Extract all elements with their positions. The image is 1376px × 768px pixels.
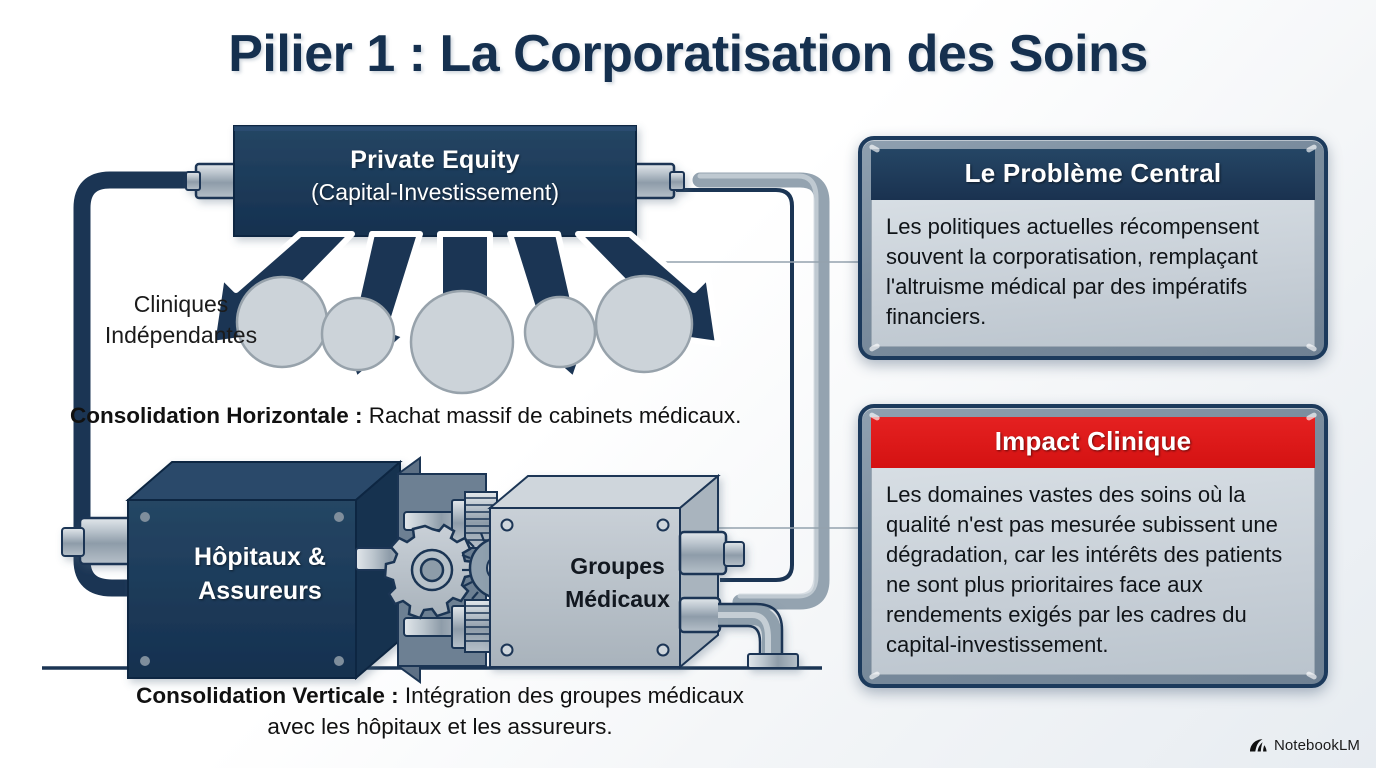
horizontal-consolidation-caption: Consolidation Horizontale : Rachat massi… — [70, 403, 810, 429]
vertical-caption-rest: Intégration des groupes médicaux — [399, 683, 744, 708]
panel-probleme-central-heading: Le Problème Central — [871, 149, 1315, 200]
panel-corner-highlight — [1305, 343, 1317, 353]
private-equity-box-label: Private Equity (Capital-Investissement) — [236, 144, 634, 208]
vertical-consolidation-caption: Consolidation Verticale : Intégration de… — [60, 680, 820, 742]
panel-corner-highlight — [1305, 671, 1317, 681]
panel-probleme-central: Le Problème Central Les politiques actue… — [858, 136, 1328, 360]
notebooklm-label: NotebookLM — [1274, 737, 1360, 754]
independent-clinics-label: Cliniques Indépendantes — [96, 289, 266, 351]
hospitals-insurers-label: Hôpitaux & Assureurs — [140, 540, 380, 608]
medical-groups-label: Groupes Médicaux — [510, 550, 725, 616]
vertical-caption-line2: avec les hôpitaux et les assureurs. — [60, 711, 820, 742]
private-equity-subtitle: (Capital-Investissement) — [236, 176, 634, 208]
clinics-label-line1: Cliniques — [96, 289, 266, 320]
horizontal-caption-bold: Consolidation Horizontale : — [70, 403, 363, 428]
hospitals-label-line2: Assureurs — [140, 574, 380, 608]
panel-impact-clinique-body: Les domaines vastes des soins où la qual… — [871, 468, 1315, 675]
medgroups-label-line1: Groupes — [510, 550, 725, 583]
clinics-label-line2: Indépendantes — [96, 320, 266, 351]
panel-impact-clinique-heading: Impact Clinique — [871, 417, 1315, 468]
hospitals-label-line1: Hôpitaux & — [140, 540, 380, 574]
medgroups-label-line2: Médicaux — [510, 583, 725, 616]
independent-clinic-circles — [237, 276, 692, 393]
panel-probleme-central-body: Les politiques actuelles récompensent so… — [871, 200, 1315, 347]
horizontal-caption-rest: Rachat massif de cabinets médicaux. — [363, 403, 742, 428]
notebooklm-logo-icon — [1249, 738, 1268, 753]
notebooklm-watermark: NotebookLM — [1249, 737, 1360, 754]
panel-impact-clinique: Impact Clinique Les domaines vastes des … — [858, 404, 1328, 688]
private-equity-title: Private Equity — [236, 144, 634, 176]
vertical-caption-bold: Consolidation Verticale : — [136, 683, 399, 708]
